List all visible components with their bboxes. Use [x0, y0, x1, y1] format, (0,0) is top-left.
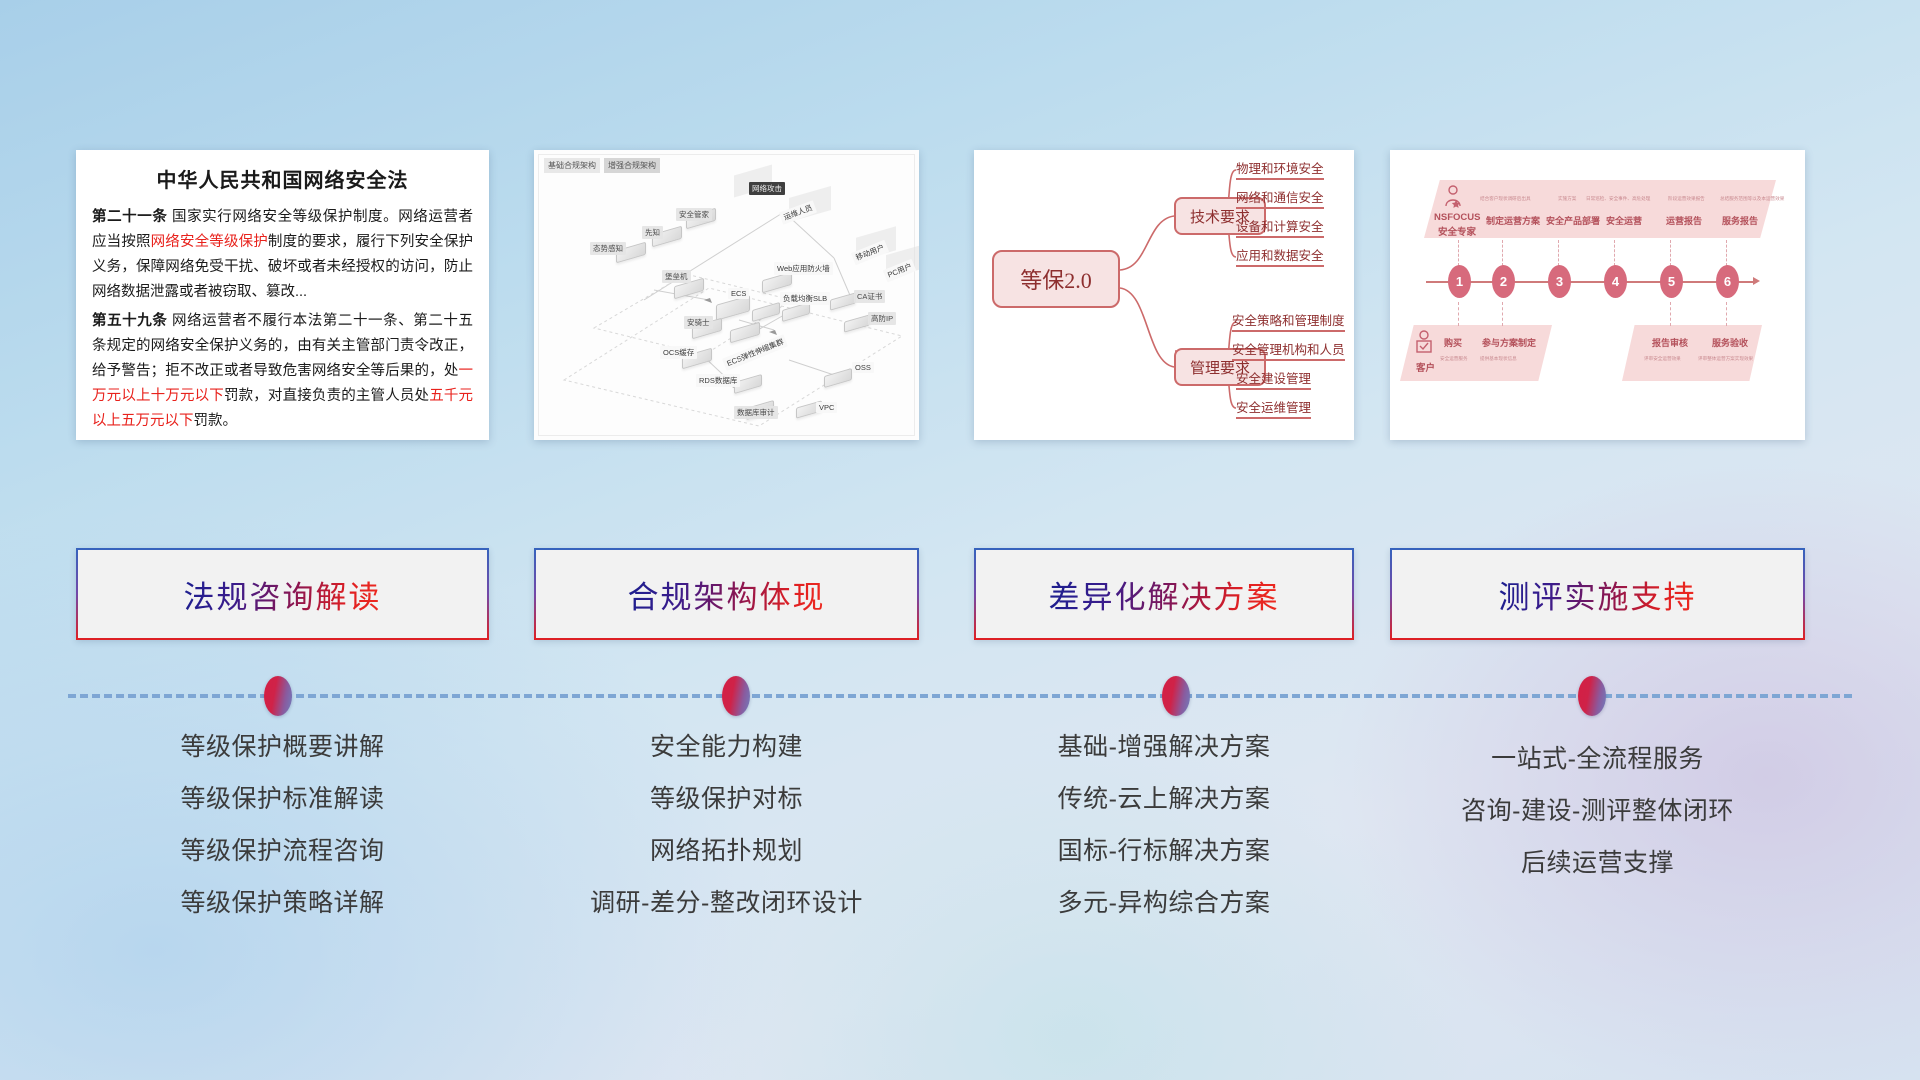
law-article-21: 第二十一条 国家实行网络安全等级保护制度。网络运营者应当按照网络安全等级保护制度…: [92, 205, 473, 305]
card-nsfocus-timeline[interactable]: NSFOCUS 安全专家 结合客户现状调研后出具 制定运营方案 实施方案 安全产…: [1390, 150, 1805, 440]
arch-node-8: RDS数据库: [696, 374, 740, 387]
list-item: 调研-差分-整改闭环设计: [534, 891, 919, 916]
arch-tab-enhanced[interactable]: 增强合规架构: [604, 158, 660, 173]
arch-node-0: 网络攻击: [749, 182, 785, 195]
timeline-connector: [68, 694, 1852, 698]
detail-list-1: 等级保护概要讲解 等级保护标准解读 等级保护流程咨询 等级保护策略详解: [76, 735, 489, 943]
nsfocus-customer-band-right: [1622, 325, 1762, 381]
nsfocus-step-dot-1[interactable]: 1: [1448, 265, 1471, 298]
nsfocus-step-5-title: 运营报告: [1666, 214, 1702, 227]
nsfocus-customer-action-0-title: 购买: [1444, 336, 1462, 349]
nsfocus-step-dot-5[interactable]: 5: [1660, 265, 1683, 298]
nsfocus-step-5-sub: 阶段运营效果报告: [1668, 196, 1705, 202]
nsfocus-step-3-sub: 实施方案: [1558, 196, 1576, 202]
title-inner-1: 法规咨询解读: [78, 550, 487, 638]
arch-node-3: 态势感知: [590, 242, 626, 255]
nsfocus-customer-label: 客户: [1416, 360, 1435, 374]
nsfocus-tick: [1458, 240, 1459, 266]
card-mindmap-dengbao[interactable]: 等保2.0 技术要求 管理要求 物理和环境安全 网络和通信安全 设备和计算安全 …: [974, 150, 1354, 440]
arch-node-2: 先知: [642, 226, 663, 239]
title-label-3: 差异化解决方案: [1049, 572, 1280, 617]
title-inner-3: 差异化解决方案: [976, 550, 1352, 638]
mindmap-leaf-tech-3: 应用和数据安全: [1236, 245, 1324, 267]
nsfocus-customer-action-3-title: 服务验收: [1712, 336, 1748, 349]
law-title: 中华人民共和国网络安全法: [92, 164, 473, 193]
list-item: 国标-行标解决方案: [974, 839, 1354, 864]
mindmap-leaf-mgmt-0: 安全策略和管理制度: [1232, 310, 1345, 332]
arch-tab-basic[interactable]: 基础合规架构: [544, 158, 600, 173]
nsfocus-step-dot-6[interactable]: 6: [1716, 265, 1739, 298]
title-inner-2: 合规架构体现: [536, 550, 917, 638]
mindmap-leaf-tech-2: 设备和计算安全: [1236, 216, 1324, 238]
arch-node-9: 数据库审计: [734, 406, 778, 419]
timeline-dot-4[interactable]: [1578, 676, 1606, 716]
timeline-dot-2[interactable]: [722, 676, 750, 716]
arch-node-16: VPC: [816, 402, 837, 413]
list-item: 等级保护流程咨询: [76, 839, 489, 864]
list-item: 等级保护对标: [534, 787, 919, 812]
architecture-tabs: 基础合规架构 增强合规架构: [544, 158, 660, 173]
list-item: 基础-增强解决方案: [974, 735, 1354, 760]
nsfocus-customer-action-2-sub: 评审安全运营效果: [1644, 356, 1681, 362]
arch-node-1: 安全管家: [676, 208, 712, 221]
list-item: 安全能力构建: [534, 735, 919, 760]
preview-cards-row: 中华人民共和国网络安全法 第二十一条 国家实行网络安全等级保护制度。网络运营者应…: [0, 150, 1920, 440]
detail-list-4: 一站式-全流程服务 咨询-建设-测评整体闭环 后续运营支撑: [1390, 747, 1805, 903]
nsfocus-step-2-sub: 结合客户现状调研后出具: [1480, 196, 1531, 202]
arch-node-13: CA证书: [854, 290, 885, 303]
arch-node-7: OCS缓存: [660, 346, 697, 359]
title-box-2[interactable]: 合规架构体现: [534, 548, 919, 640]
nsfocus-axis: [1426, 281, 1756, 283]
card-cloud-architecture[interactable]: 基础合规架构 增强合规架构: [534, 150, 919, 440]
nsfocus-step-dot-2[interactable]: 2: [1492, 265, 1515, 298]
nsfocus-customer-action-0-sub: 安全运营服务: [1440, 356, 1468, 362]
law-article-21-highlight: 网络安全等级保护: [151, 234, 268, 250]
customer-avatar-icon: [1414, 330, 1434, 358]
mindmap-root: 等保2.0: [992, 250, 1120, 308]
nsfocus-step-2-title: 制定运营方案: [1486, 214, 1540, 227]
nsfocus-step-4-title: 安全运营: [1606, 214, 1642, 227]
list-item: 等级保护策略详解: [76, 891, 489, 916]
nsfocus-tick: [1558, 240, 1559, 266]
list-item: 等级保护标准解读: [76, 787, 489, 812]
nsfocus-step-dot-4[interactable]: 4: [1604, 265, 1627, 298]
arch-node-14: 高防IP: [868, 312, 896, 325]
nsfocus-tick: [1670, 302, 1671, 326]
nsfocus-step-4-sub: 日常巡检、安全事件、高危处理: [1586, 196, 1650, 202]
nsfocus-expert-line1: NSFOCUS: [1434, 212, 1480, 223]
arch-node-15: OSS: [852, 362, 874, 373]
title-box-3[interactable]: 差异化解决方案: [974, 548, 1354, 640]
arch-node-11: 负载均衡SLB: [780, 292, 830, 305]
nsfocus-tick: [1458, 302, 1459, 326]
law-article-59-b: 罚款，对直接负责的主管人员处: [224, 388, 429, 404]
nsfocus-customer-action-3-sub: 评审整体运营方案实现效果: [1698, 356, 1753, 362]
title-label-2: 合规架构体现: [628, 572, 826, 617]
section-titles-row: 法规咨询解读 合规架构体现 差异化解决方案 测评实施支持: [0, 548, 1920, 640]
mindmap-leaf-tech-0: 物理和环境安全: [1236, 158, 1324, 180]
list-item: 传统-云上解决方案: [974, 787, 1354, 812]
architecture-diagram: 基础合规架构 增强合规架构: [534, 150, 919, 440]
nsfocus-customer-action-1-sub: 提供基本现状信息: [1480, 356, 1517, 362]
nsfocus-tick: [1614, 240, 1615, 266]
law-document: 中华人民共和国网络安全法 第二十一条 国家实行网络安全等级保护制度。网络运营者应…: [76, 150, 489, 440]
nsfocus-tick: [1726, 240, 1727, 266]
nsfocus-tick: [1502, 240, 1503, 266]
arch-node-4: 堡垒机: [662, 270, 691, 283]
list-item: 后续运营支撑: [1390, 851, 1805, 876]
title-inner-4: 测评实施支持: [1392, 550, 1803, 638]
mindmap-leaf-mgmt-1: 安全管理机构和人员: [1232, 339, 1345, 361]
nsfocus-tick: [1502, 302, 1503, 326]
mindmap-leaf-mgmt-2: 安全建设管理: [1236, 368, 1311, 390]
expert-avatar-icon: [1442, 184, 1464, 210]
list-item: 网络拓扑规划: [534, 839, 919, 864]
nsfocus-customer-action-1-title: 参与方案制定: [1482, 336, 1536, 349]
arch-node-6: 安骑士: [684, 316, 713, 329]
card-cybersecurity-law[interactable]: 中华人民共和国网络安全法 第二十一条 国家实行网络安全等级保护制度。网络运营者应…: [76, 150, 489, 440]
detail-list-3: 基础-增强解决方案 传统-云上解决方案 国标-行标解决方案 多元-异构综合方案: [974, 735, 1354, 943]
list-item: 等级保护概要讲解: [76, 735, 489, 760]
list-item: 一站式-全流程服务: [1390, 747, 1805, 772]
law-article-21-label: 第二十一条: [92, 209, 167, 225]
nsfocus-customer-action-2-title: 报告审核: [1652, 336, 1688, 349]
nsfocus-tick: [1670, 240, 1671, 266]
nsfocus-tick: [1726, 302, 1727, 326]
title-box-4[interactable]: 测评实施支持: [1390, 548, 1805, 640]
detail-list-2: 安全能力构建 等级保护对标 网络拓扑规划 调研-差分-整改闭环设计: [534, 735, 919, 943]
timeline-dot-3[interactable]: [1162, 676, 1190, 716]
nsfocus-step-6-sub: 总结服务范围等以及本运营效果: [1720, 196, 1784, 202]
nsfocus-expert-line2: 安全专家: [1438, 224, 1476, 238]
title-label-1: 法规咨询解读: [184, 572, 382, 617]
nsfocus-step-6-title: 服务报告: [1722, 214, 1758, 227]
arch-node-5: ECS: [728, 288, 749, 299]
mindmap-leaf-tech-1: 网络和通信安全: [1236, 187, 1324, 209]
law-article-59-label: 第五十九条: [92, 313, 167, 329]
list-item: 咨询-建设-测评整体闭环: [1390, 799, 1805, 824]
law-article-59: 第五十九条 网络运营者不履行本法第二十一条、第二十五条规定的网络安全保护义务的，…: [92, 309, 473, 434]
title-label-4: 测评实施支持: [1499, 572, 1697, 617]
nsfocus-axis-arrow: [1753, 277, 1760, 285]
list-item: 多元-异构综合方案: [974, 891, 1354, 916]
nsfocus-step-dot-3[interactable]: 3: [1548, 265, 1571, 298]
law-article-59-c: 罚款。: [194, 413, 238, 429]
nsfocus-expert-band: [1424, 180, 1776, 238]
nsfocus-step-3-title: 安全产品部署: [1546, 214, 1600, 227]
nsfocus-process: NSFOCUS 安全专家 结合客户现状调研后出具 制定运营方案 实施方案 安全产…: [1390, 150, 1805, 440]
arch-node-10: Web应用防火墙: [774, 262, 833, 275]
title-box-1[interactable]: 法规咨询解读: [76, 548, 489, 640]
mindmap-leaf-mgmt-3: 安全运维管理: [1236, 397, 1311, 419]
mindmap: 等保2.0 技术要求 管理要求 物理和环境安全 网络和通信安全 设备和计算安全 …: [974, 150, 1354, 440]
timeline-dot-1[interactable]: [264, 676, 292, 716]
